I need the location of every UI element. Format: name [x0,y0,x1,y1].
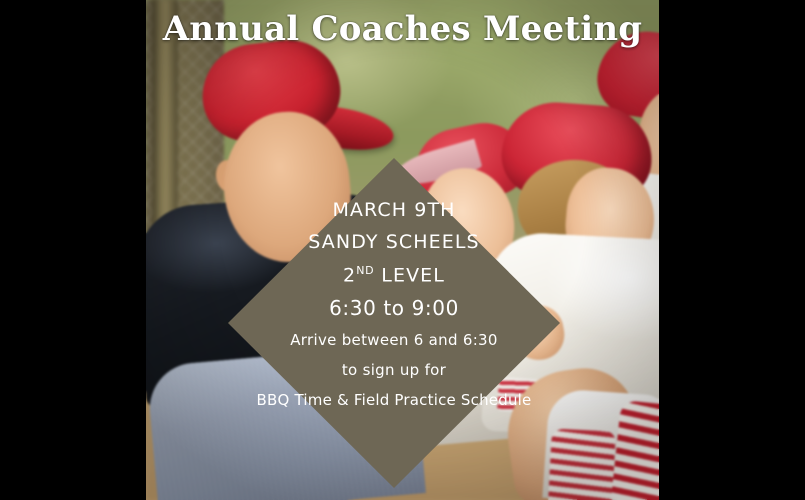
letterbox-bar-right [659,0,805,500]
letterbox-bar-left [0,0,146,500]
page-title: Annual Coaches Meeting [146,8,659,50]
poster-root: Annual Coaches Meeting MARCH 9TH SANDY S… [0,0,805,500]
player-striped-sock-2 [548,428,616,500]
